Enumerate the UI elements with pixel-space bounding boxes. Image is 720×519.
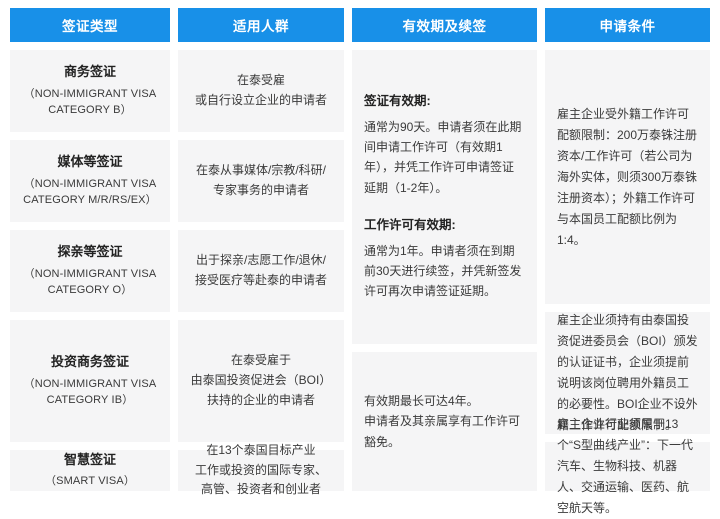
table-body: 商务签证 （NON-IMMIGRANT VISA CATEGORY B） 媒体等…	[10, 50, 710, 491]
column-target-group: 在泰受雇 或自行设立企业的申请者 在泰从事媒体/宗教/科研/ 专家事务的申请者 …	[178, 50, 344, 491]
visa-code-line: （NON-IMMIGRANT VISA	[24, 86, 157, 103]
target-group-line: 出于探亲/志愿工作/退休/	[196, 251, 326, 271]
target-group-line: 接受医疗等赴泰的申请者	[195, 271, 327, 291]
table-row: 商务签证 （NON-IMMIGRANT VISA CATEGORY B）	[10, 50, 170, 132]
visa-comparison-table: 签证类型 适用人群 有效期及续签 申请条件 商务签证 （NON-IMMIGRAN…	[0, 0, 720, 499]
table-cell-target-group: 在泰从事媒体/宗教/科研/ 专家事务的申请者	[178, 140, 344, 222]
visa-code-line: CATEGORY O）	[48, 282, 133, 299]
table-header-row: 签证类型 适用人群 有效期及续签 申请条件	[10, 8, 710, 42]
requirements-text: 雇主企业受外籍工作许可配额限制：200万泰铢注册资本/工作许可（若公司为海外实体…	[557, 104, 698, 251]
table-cell-requirements-merged: 雇主企业受外籍工作许可配额限制：200万泰铢注册资本/工作许可（若公司为海外实体…	[545, 50, 710, 304]
paragraph-spacer	[364, 198, 525, 216]
table-cell-target-group: 在泰受雇 或自行设立企业的申请者	[178, 50, 344, 132]
visa-validity-title: 签证有效期:	[364, 92, 525, 111]
table-row: 投资商务签证 （NON-IMMIGRANT VISA CATEGORY IB）	[10, 320, 170, 442]
work-permit-validity-body: 通常为1年。申请者须在到期前30天进行续签，并凭新签发许可再次申请签证延期。	[364, 241, 525, 302]
column-requirements: 雇主企业受外籍工作许可配额限制：200万泰铢注册资本/工作许可（若公司为海外实体…	[545, 50, 710, 491]
work-permit-validity-title: 工作许可有效期:	[364, 216, 525, 235]
table-cell-target-group: 在13个泰国目标产业 工作或投资的国际专家、 高管、投资者和创业者	[178, 450, 344, 491]
visa-name: 媒体等签证	[57, 153, 122, 171]
target-group-line: 扶持的企业的申请者	[207, 391, 315, 411]
column-header-requirements: 申请条件	[545, 8, 710, 42]
target-group-line: 高管、投资者和创业者	[201, 480, 321, 500]
visa-code-line: （NON-IMMIGRANT VISA	[24, 376, 157, 393]
visa-validity-body: 通常为90天。申请者须在此期间申请工作许可（有效期1年），并凭工作许可申请签证延…	[364, 117, 525, 199]
column-header-target-group: 适用人群	[178, 8, 344, 42]
table-cell-target-group: 出于探亲/志愿工作/退休/ 接受医疗等赴泰的申请者	[178, 230, 344, 312]
requirements-text: 雇主企业行业须属于13个“S型曲线产业”：下一代汽车、生物科技、机器人、交通运输…	[557, 414, 698, 519]
smart-validity-line: 申请者及其亲属享有工作许可豁免。	[364, 411, 525, 452]
target-group-line: 或自行设立企业的申请者	[195, 91, 327, 111]
visa-code-line: CATEGORY IB）	[47, 392, 134, 409]
table-cell-requirements-smart: 雇主企业行业须属于13个“S型曲线产业”：下一代汽车、生物科技、机器人、交通运输…	[545, 442, 710, 491]
visa-code-line: （SMART VISA）	[45, 473, 135, 490]
column-visa-type: 商务签证 （NON-IMMIGRANT VISA CATEGORY B） 媒体等…	[10, 50, 170, 491]
column-header-validity-renewal: 有效期及续签	[352, 8, 537, 42]
visa-code-line: CATEGORY B）	[48, 102, 132, 119]
smart-validity-line: 有效期最长可达4年。	[364, 391, 525, 411]
visa-code-line: （NON-IMMIGRANT VISA	[24, 266, 157, 283]
table-cell-target-group: 在泰受雇于 由泰国投资促进会（BOI） 扶持的企业的申请者	[178, 320, 344, 442]
table-cell-validity-merged: 签证有效期: 通常为90天。申请者须在此期间申请工作许可（有效期1年），并凭工作…	[352, 50, 537, 344]
visa-name: 智慧签证	[64, 451, 116, 469]
target-group-line: 专家事务的申请者	[213, 181, 309, 201]
target-group-line: 在13个泰国目标产业	[206, 441, 315, 461]
visa-name: 商务签证	[64, 63, 116, 81]
visa-code-line: CATEGORY M/R/RS/EX）	[23, 192, 157, 209]
target-group-line: 在泰受雇	[237, 71, 285, 91]
target-group-line: 在泰受雇于	[231, 351, 291, 371]
target-group-line: 工作或投资的国际专家、	[195, 461, 327, 481]
target-group-line: 在泰从事媒体/宗教/科研/	[196, 161, 326, 181]
visa-name: 投资商务签证	[51, 353, 129, 371]
target-group-line: 由泰国投资促进会（BOI）	[191, 371, 332, 391]
column-validity-renewal: 签证有效期: 通常为90天。申请者须在此期间申请工作许可（有效期1年），并凭工作…	[352, 50, 537, 491]
table-row: 探亲等签证 （NON-IMMIGRANT VISA CATEGORY O）	[10, 230, 170, 312]
table-row: 媒体等签证 （NON-IMMIGRANT VISA CATEGORY M/R/R…	[10, 140, 170, 222]
table-cell-validity-smart: 有效期最长可达4年。 申请者及其亲属享有工作许可豁免。	[352, 352, 537, 491]
table-row: 智慧签证 （SMART VISA）	[10, 450, 170, 491]
column-header-visa-type: 签证类型	[10, 8, 170, 42]
visa-code-line: （NON-IMMIGRANT VISA	[24, 176, 157, 193]
visa-name: 探亲等签证	[57, 243, 122, 261]
